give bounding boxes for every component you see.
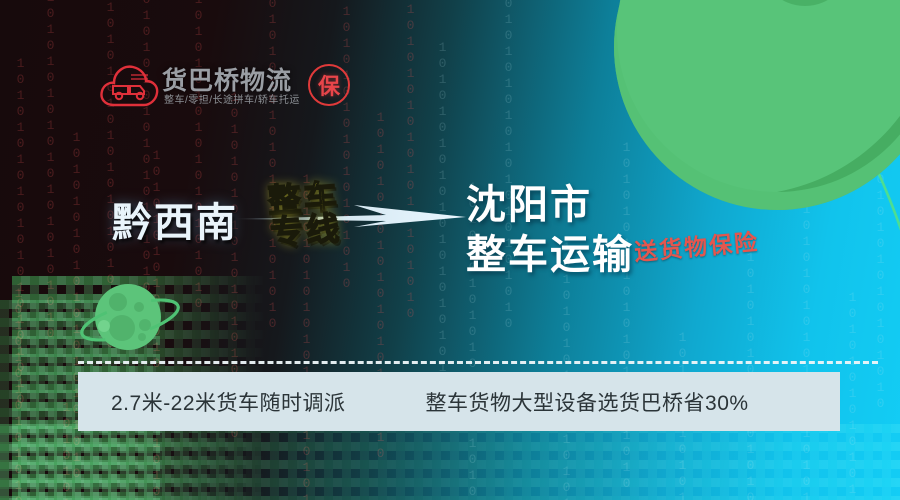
insurance-seal-badge: 保 bbox=[308, 64, 350, 106]
binary-column: 1010101010101010101010 bbox=[502, 0, 515, 332]
footer-right-text: 整车货物大型设备选货巴桥省30% bbox=[426, 387, 749, 417]
dashed-divider bbox=[78, 361, 878, 364]
brand-logo[interactable]: 货巴桥物流 整车/零担/长途拼车/轿车托运 保 bbox=[98, 60, 338, 112]
destination-block: 沈阳市 整车运输 bbox=[466, 180, 634, 281]
ringed-planet-icon bbox=[78, 276, 182, 360]
binary-column: 1010101010101010101010 bbox=[192, 0, 205, 312]
brand-tagline: 整车/零担/长途拼车/轿车托运 bbox=[164, 91, 300, 106]
promo-banner: 1010101010101010101010 10101010101010101… bbox=[0, 0, 900, 500]
destination-city: 沈阳市 bbox=[466, 180, 634, 230]
truck-cloud-icon bbox=[98, 62, 160, 108]
binary-column: 1010101010101010101010 bbox=[404, 0, 417, 322]
origin-city: 黔西南 bbox=[112, 190, 238, 248]
destination-service: 整车运输 bbox=[466, 230, 634, 280]
lane-text-line2: 专线 bbox=[269, 212, 343, 249]
planet-icon bbox=[612, 0, 900, 212]
lane-badge: 整车 专线 bbox=[247, 161, 364, 268]
footer-bar: 2.7米-22米货车随时调派 整车货物大型设备选货巴桥省30% bbox=[78, 372, 840, 431]
footer-left-text: 2.7米-22米货车随时调派 bbox=[111, 387, 346, 417]
pixel-grid-strip bbox=[0, 424, 900, 500]
